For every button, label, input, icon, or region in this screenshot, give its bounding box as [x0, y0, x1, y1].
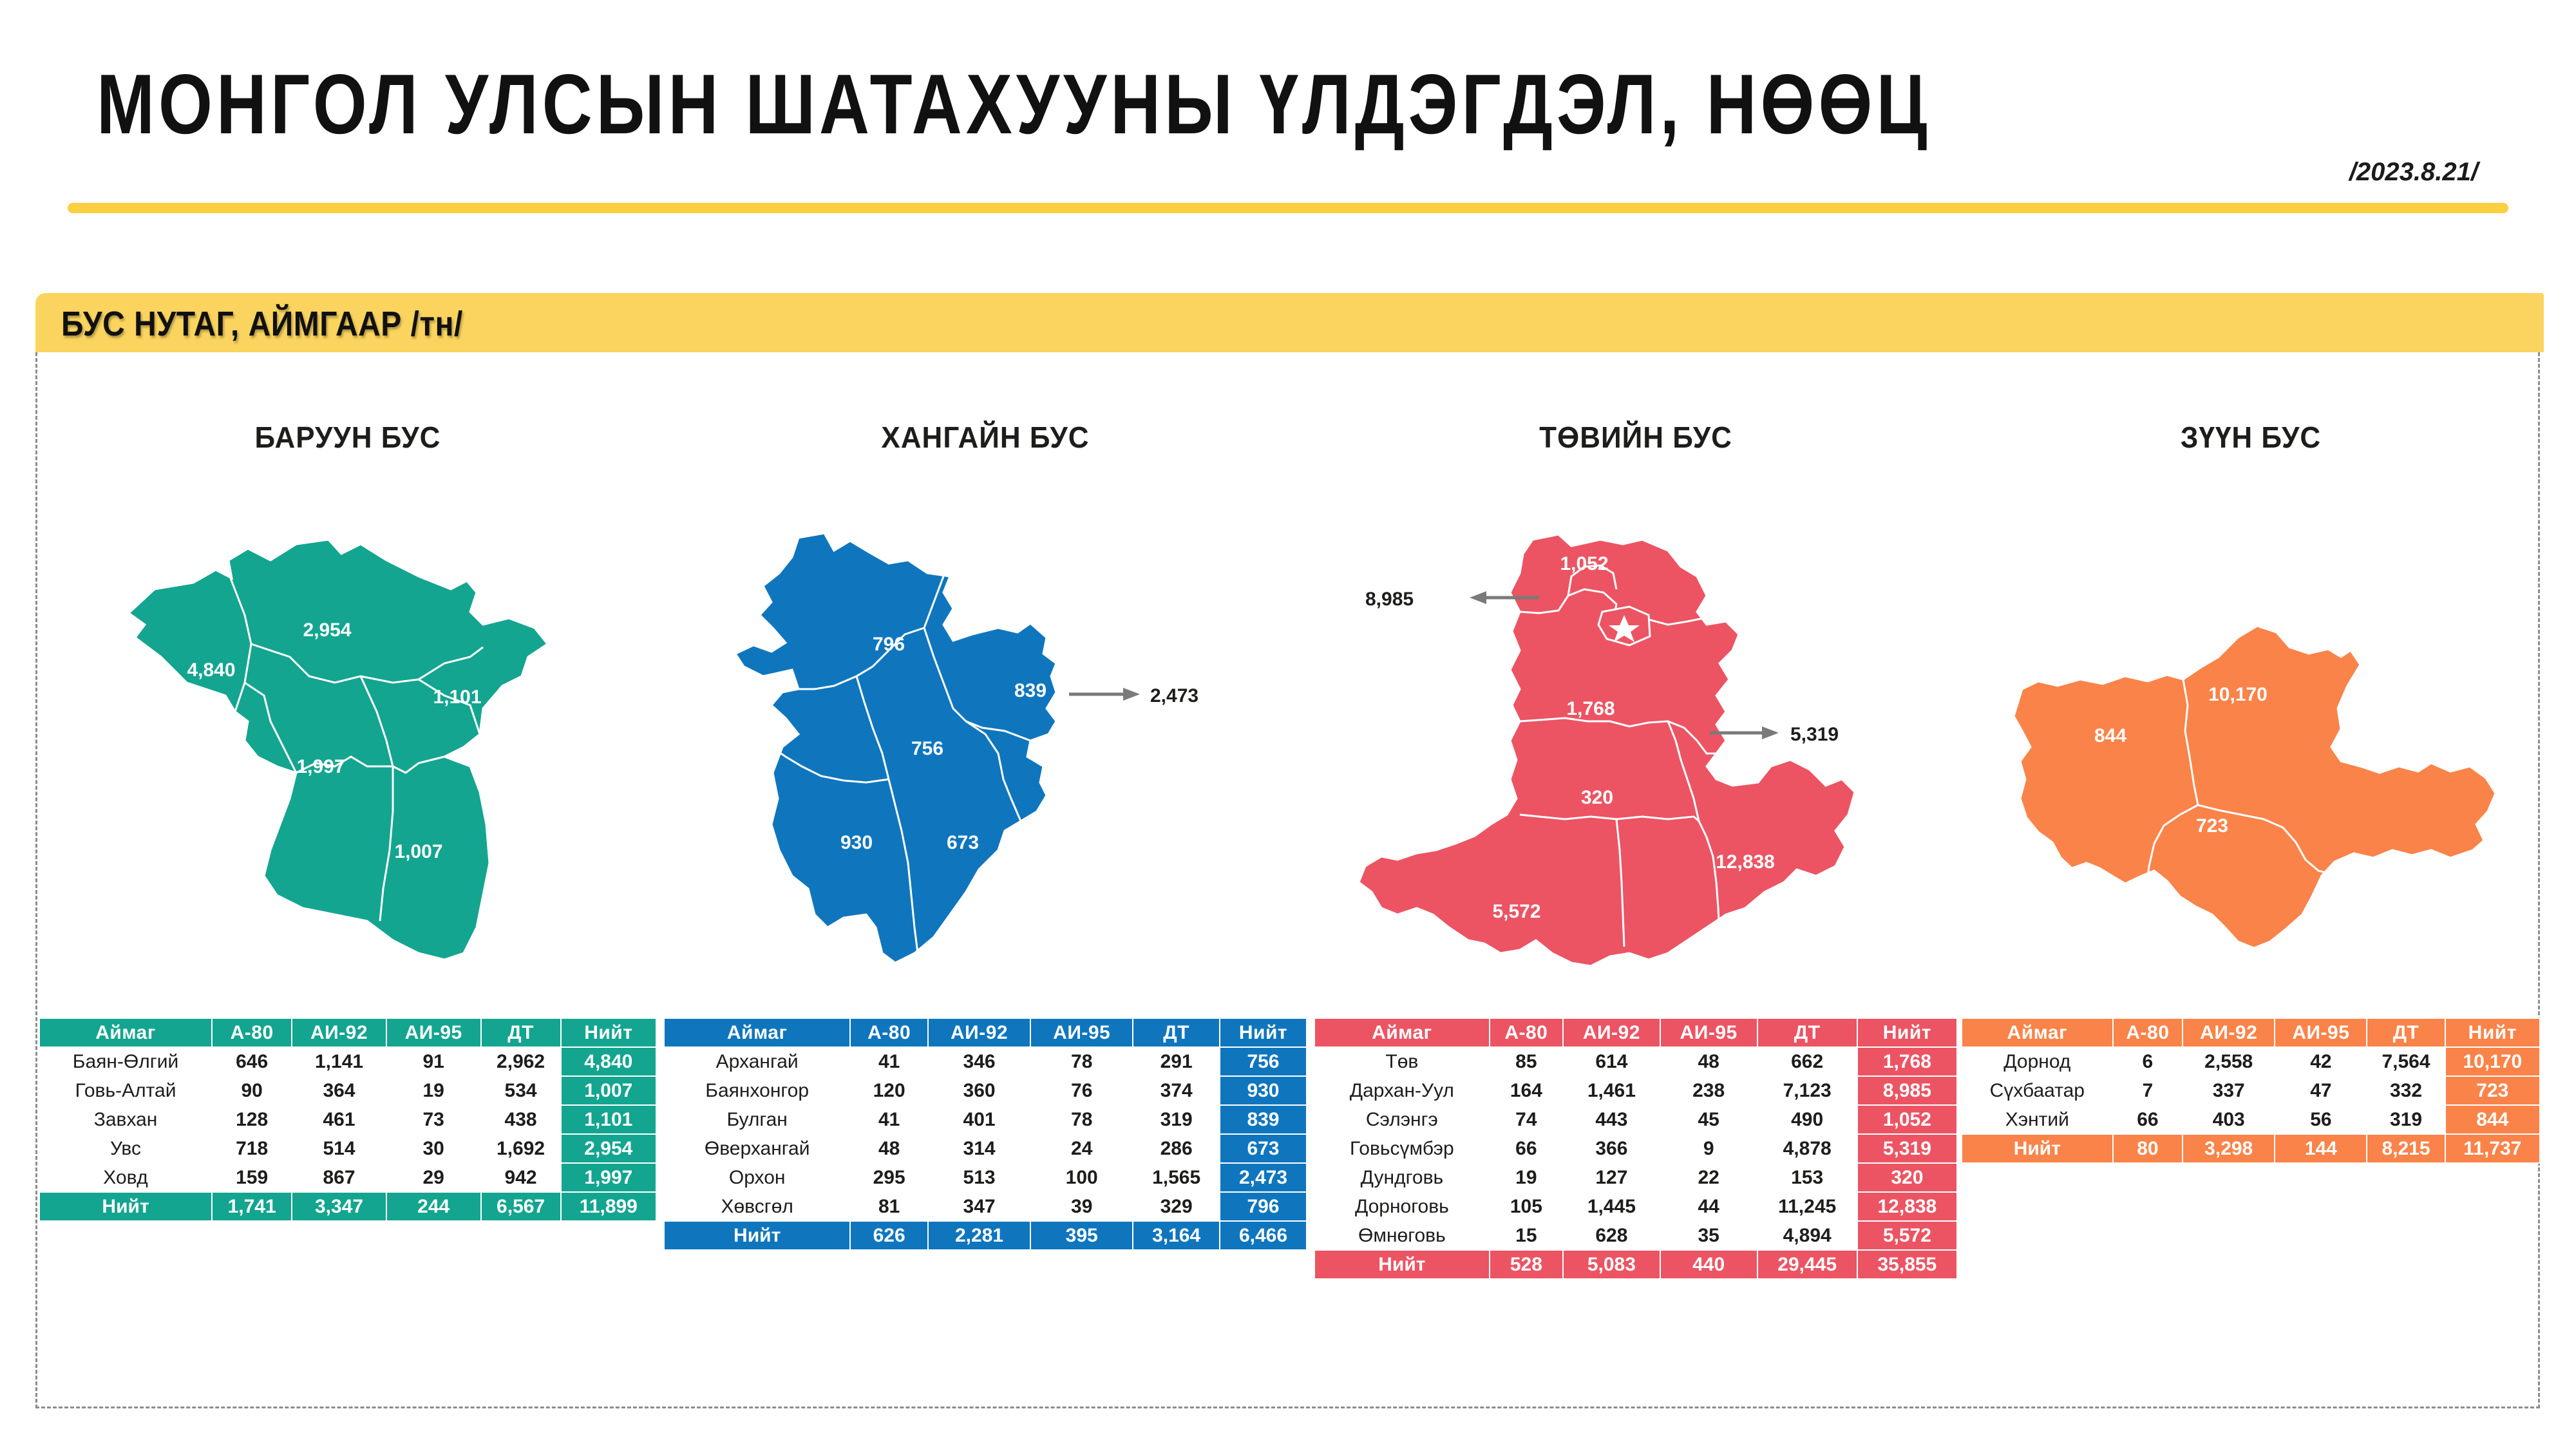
svg-text:673: 673 — [947, 832, 979, 853]
map-khangain-bus: 796 839 756 930 673 2,473 — [663, 464, 1307, 985]
col-dt: ДТ — [2367, 1018, 2445, 1047]
svg-text:930: 930 — [840, 832, 873, 853]
region-title: ХАНГАЙН БУС — [663, 421, 1307, 455]
section-label: БУС НУТАГ, АЙМГААР /тн/ — [61, 305, 463, 345]
table-row: Хөвсгөл8134739329796 — [664, 1192, 1307, 1221]
map-baruun-bus: 4,840 2,954 1,101 1,997 1,007 — [39, 464, 657, 985]
col-a80: А-80 — [1490, 1018, 1563, 1047]
col-aimag: Аймаг — [39, 1018, 212, 1047]
col-total: Нийт — [1220, 1018, 1307, 1047]
table-tuviin-bus: Аймаг А-80 АИ-92 АИ-95 ДТ Нийт Төв856144… — [1314, 1018, 1958, 1280]
map-zuun-bus: 844 10,170 723 — [1961, 464, 2541, 985]
svg-text:796: 796 — [873, 634, 905, 655]
table-row: Дорноговь1051,4454411,24512,838 — [1314, 1192, 1957, 1221]
infographic-page: МОНГОЛ УЛСЫН ШАТАХУУНЫ ҮЛДЭГДЭЛ, НӨӨЦ /2… — [0, 0, 2576, 1449]
table-row: Төв85614486621,768 — [1314, 1047, 1957, 1076]
svg-text:10,170: 10,170 — [2208, 684, 2268, 705]
table-row: Дархан-Уул1641,4612387,1238,985 — [1314, 1076, 1957, 1105]
col-aimag: Аймаг — [1962, 1018, 2113, 1047]
svg-text:12,838: 12,838 — [1716, 851, 1775, 873]
col-a80: А-80 — [850, 1018, 928, 1047]
svg-text:1,007: 1,007 — [394, 841, 442, 862]
table-zuun-bus: Аймаг А-80 АИ-92 АИ-95 ДТ Нийт Дорнод62,… — [1961, 1018, 2541, 1164]
report-date: /2023.8.21/ — [2349, 158, 2478, 187]
svg-text:839: 839 — [1014, 680, 1046, 701]
col-ai92: АИ-92 — [2183, 1018, 2275, 1047]
table-row: Дорнод62,558427,56410,170 — [1962, 1047, 2540, 1076]
col-ai92: АИ-92 — [928, 1018, 1030, 1047]
col-a80: А-80 — [2113, 1018, 2183, 1047]
table-total-row: Нийт803,2981448,21511,737 — [1962, 1134, 2540, 1163]
col-ai95: АИ-95 — [386, 1018, 481, 1047]
region-panel-zuun: ЗҮҮН БУС 844 10,170 723 Айма — [1961, 386, 2541, 1391]
col-total: Нийт — [561, 1018, 656, 1047]
table-total-row: Нийт1,7413,3472446,56711,899 — [39, 1192, 656, 1221]
svg-text:756: 756 — [911, 738, 943, 759]
svg-text:320: 320 — [1581, 787, 1613, 808]
svg-text:844: 844 — [2094, 725, 2126, 746]
table-row: Говьсүмбэр6636694,8785,319 — [1314, 1134, 1957, 1163]
table-total-row: Нийт5285,08344029,44535,855 — [1314, 1250, 1957, 1279]
table-row: Хэнтий6640356319844 — [1962, 1105, 2540, 1134]
table-row: Өмнөговь15628354,8945,572 — [1314, 1221, 1957, 1250]
table-header-row: Аймаг А-80 АИ-92 АИ-95 ДТ Нийт — [39, 1018, 656, 1047]
col-ai92: АИ-92 — [1563, 1018, 1660, 1047]
table-row: Орхон2955131001,5652,473 — [664, 1163, 1307, 1192]
region-panel-tuv: ТӨВИЙН БУС 1,052 1,768 — [1314, 386, 1958, 1391]
title-underline — [68, 203, 2508, 213]
col-ai95: АИ-95 — [2275, 1018, 2367, 1047]
svg-text:723: 723 — [2196, 815, 2228, 837]
col-ai95: АИ-95 — [1030, 1018, 1133, 1047]
svg-text:2,954: 2,954 — [303, 620, 351, 641]
col-aimag: Аймаг — [1314, 1018, 1490, 1047]
page-title: МОНГОЛ УЛСЫН ШАТАХУУНЫ ҮЛДЭГДЭЛ, НӨӨЦ — [97, 55, 1931, 153]
region-title: БАРУУН БУС — [39, 421, 657, 455]
callout-orkhon — [1069, 688, 1140, 701]
col-dt: ДТ — [1133, 1018, 1220, 1047]
section-band: БУС НУТАГ, АЙМГААР /тн/ — [35, 293, 2544, 352]
svg-text:1,997: 1,997 — [296, 756, 345, 777]
col-ai95: АИ-95 — [1660, 1018, 1757, 1047]
table-khangain-bus: Аймаг А-80 АИ-92 АИ-95 ДТ Нийт Архангай4… — [663, 1018, 1307, 1251]
region-panel-khangai: ХАНГАЙН БУС 796 839 756 930 — [663, 386, 1307, 1391]
table-row: Дундговь1912722153320 — [1314, 1163, 1957, 1192]
region-title: ЗҮҮН БУС — [1961, 421, 2541, 455]
table-row: Баянхонгор12036076374930 — [664, 1076, 1307, 1105]
col-dt: ДТ — [1757, 1018, 1857, 1047]
table-row: Завхан128461734381,101 — [39, 1105, 656, 1134]
callout-label: 5,319 — [1790, 724, 1839, 745]
callout-label: 2,473 — [1150, 685, 1198, 706]
svg-text:4,840: 4,840 — [187, 659, 235, 681]
col-ai92: АИ-92 — [292, 1018, 386, 1047]
col-total: Нийт — [1857, 1018, 1957, 1047]
table-row: Сэлэнгэ74443454901,052 — [1314, 1105, 1957, 1134]
svg-text:1,768: 1,768 — [1566, 698, 1615, 719]
table-header-row: Аймаг А-80 АИ-92 АИ-95 ДТ Нийт — [1314, 1018, 1957, 1047]
col-a80: А-80 — [212, 1018, 292, 1047]
table-row: Сүхбаатар733747332723 — [1962, 1076, 2540, 1105]
table-row: Өверхангай4831424286673 — [664, 1134, 1307, 1163]
table-row: Баян-Өлгий6461,141912,9624,840 — [39, 1047, 656, 1076]
region-title: ТӨВИЙН БУС — [1314, 421, 1958, 455]
table-header-row: Аймаг А-80 АИ-92 АИ-95 ДТ Нийт — [1962, 1018, 2540, 1047]
table-row: Говь-Алтай90364195341,007 — [39, 1076, 656, 1105]
svg-text:1,101: 1,101 — [433, 687, 481, 708]
table-total-row: Нийт6262,2813953,1646,466 — [664, 1221, 1307, 1250]
svg-text:1,052: 1,052 — [1560, 553, 1608, 574]
table-baruun-bus: Аймаг А-80 АИ-92 АИ-95 ДТ Нийт Баян-Өлги… — [39, 1018, 657, 1222]
table-row: Архангай4134678291756 — [664, 1047, 1307, 1076]
table-row: Увс718514301,6922,954 — [39, 1134, 656, 1163]
map-tuviin-bus: 1,052 1,768 320 12,838 5,572 8,985 5,319 — [1314, 464, 1958, 985]
col-total: Нийт — [2445, 1018, 2540, 1047]
table-row: Ховд159867299421,997 — [39, 1163, 656, 1192]
table-row: Булган4140178319839 — [664, 1105, 1307, 1134]
table-header-row: Аймаг А-80 АИ-92 АИ-95 ДТ Нийт — [664, 1018, 1307, 1047]
region-panel-baruun: БАРУУН БУС 4,840 — [39, 386, 657, 1391]
col-aimag: Аймаг — [664, 1018, 850, 1047]
callout-label: 8,985 — [1365, 589, 1414, 610]
svg-text:5,572: 5,572 — [1492, 901, 1540, 922]
col-dt: ДТ — [481, 1018, 561, 1047]
